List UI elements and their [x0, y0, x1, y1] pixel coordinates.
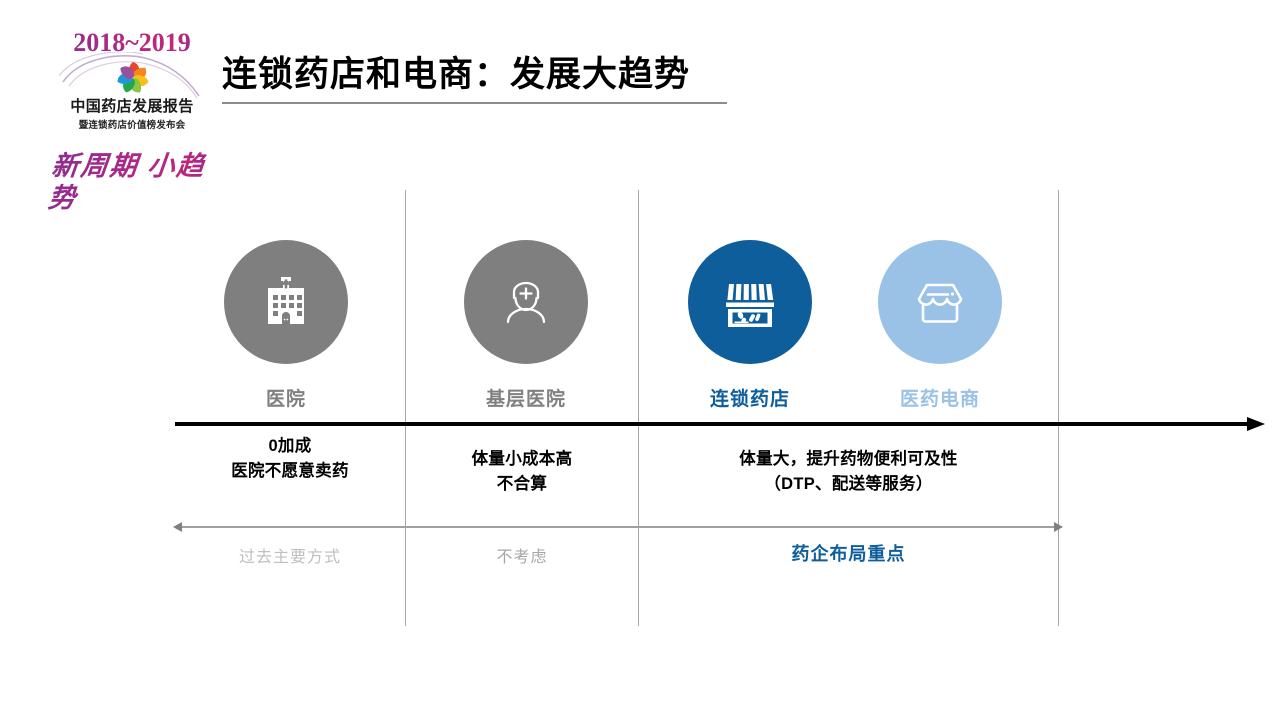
- page-title: 连锁药店和电商：发展大趋势: [222, 46, 690, 97]
- description-line: 体量小成本高: [406, 447, 638, 472]
- description-line: 0加成: [175, 434, 405, 459]
- doctor-person-icon: [495, 271, 557, 333]
- title-underline-rule: [222, 102, 727, 104]
- range-tick: [638, 520, 639, 528]
- hospital-building-icon: [255, 271, 317, 333]
- online-store-outline-icon: [906, 268, 974, 336]
- logo-report-name: 中国药店发展报告: [57, 98, 207, 116]
- description-block: 0加成 医院不愿意卖药: [175, 434, 405, 484]
- summary-label: 过去主要方式: [175, 543, 405, 567]
- node-label: 基层医院: [464, 384, 588, 411]
- node-label: 医药电商: [878, 384, 1002, 411]
- node-circle: [878, 240, 1002, 364]
- logo-slogan: 新周期 小趋势: [47, 150, 224, 214]
- description-line: 不合算: [406, 472, 638, 497]
- node-hospital[interactable]: 医院: [224, 240, 348, 411]
- node-circle: [224, 240, 348, 364]
- description-block: 体量大，提升药物便利可及性 （DTP、配送等服务）: [639, 447, 1058, 497]
- description-block: 体量小成本高 不合算: [406, 447, 638, 497]
- scope-range-double-arrow: [172, 520, 1064, 534]
- node-primary-hospital[interactable]: 基层医院: [464, 240, 588, 411]
- summary-label: 药企布局重点: [639, 540, 1058, 566]
- description-line: 体量大，提升药物便利可及性: [639, 447, 1058, 472]
- event-logo: 2018~2019: [57, 28, 207, 143]
- column-divider: [1058, 190, 1059, 626]
- logo-year-range: 2018~2019: [57, 28, 207, 58]
- node-online-pharmacy[interactable]: 医药电商: [878, 240, 1002, 411]
- node-circle: [464, 240, 588, 364]
- range-tick: [405, 520, 406, 528]
- slide-canvas: 2018~2019: [0, 0, 1280, 720]
- description-line: （DTP、配送等服务）: [639, 472, 1058, 497]
- node-label: 医院: [224, 384, 348, 411]
- node-circle: [688, 240, 812, 364]
- description-line: 医院不愿意卖药: [175, 459, 405, 484]
- summary-label: 不考虑: [406, 543, 638, 567]
- logo-pinwheel-icon: [113, 58, 153, 98]
- pharmacy-storefront-icon: [717, 269, 783, 335]
- node-chain-pharmacy[interactable]: 连锁药店: [688, 240, 812, 411]
- logo-sub-name: 暨连锁药店价值榜发布会: [57, 117, 207, 131]
- timeline-axis-arrow: [175, 417, 1265, 431]
- node-label: 连锁药店: [688, 384, 812, 411]
